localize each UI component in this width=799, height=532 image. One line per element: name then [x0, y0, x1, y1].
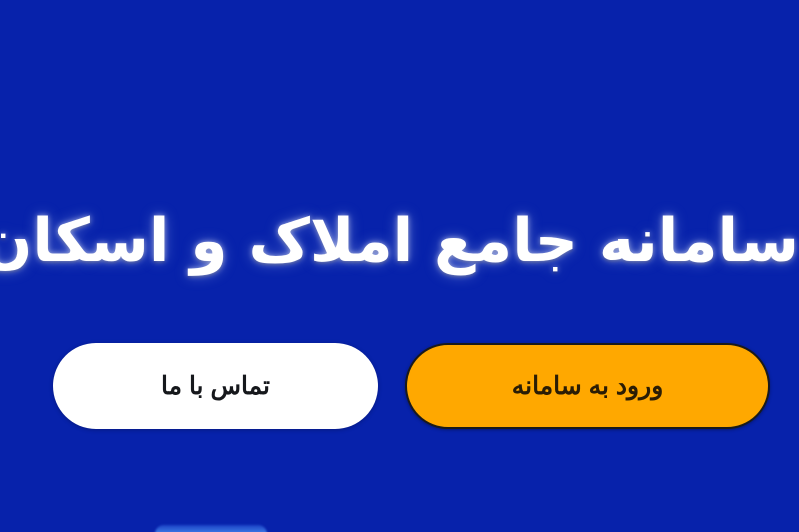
app-screen: سامانه جامع املاک و اسکان ورود به سامانه…	[0, 0, 799, 532]
bottom-partial-element[interactable]	[155, 525, 267, 532]
page-title: سامانه جامع املاک و اسکان	[0, 208, 799, 275]
login-button[interactable]: ورود به سامانه	[405, 343, 770, 429]
contact-us-button[interactable]: تماس با ما	[53, 343, 378, 429]
action-button-row: ورود به سامانه تماس با ما	[0, 343, 799, 429]
